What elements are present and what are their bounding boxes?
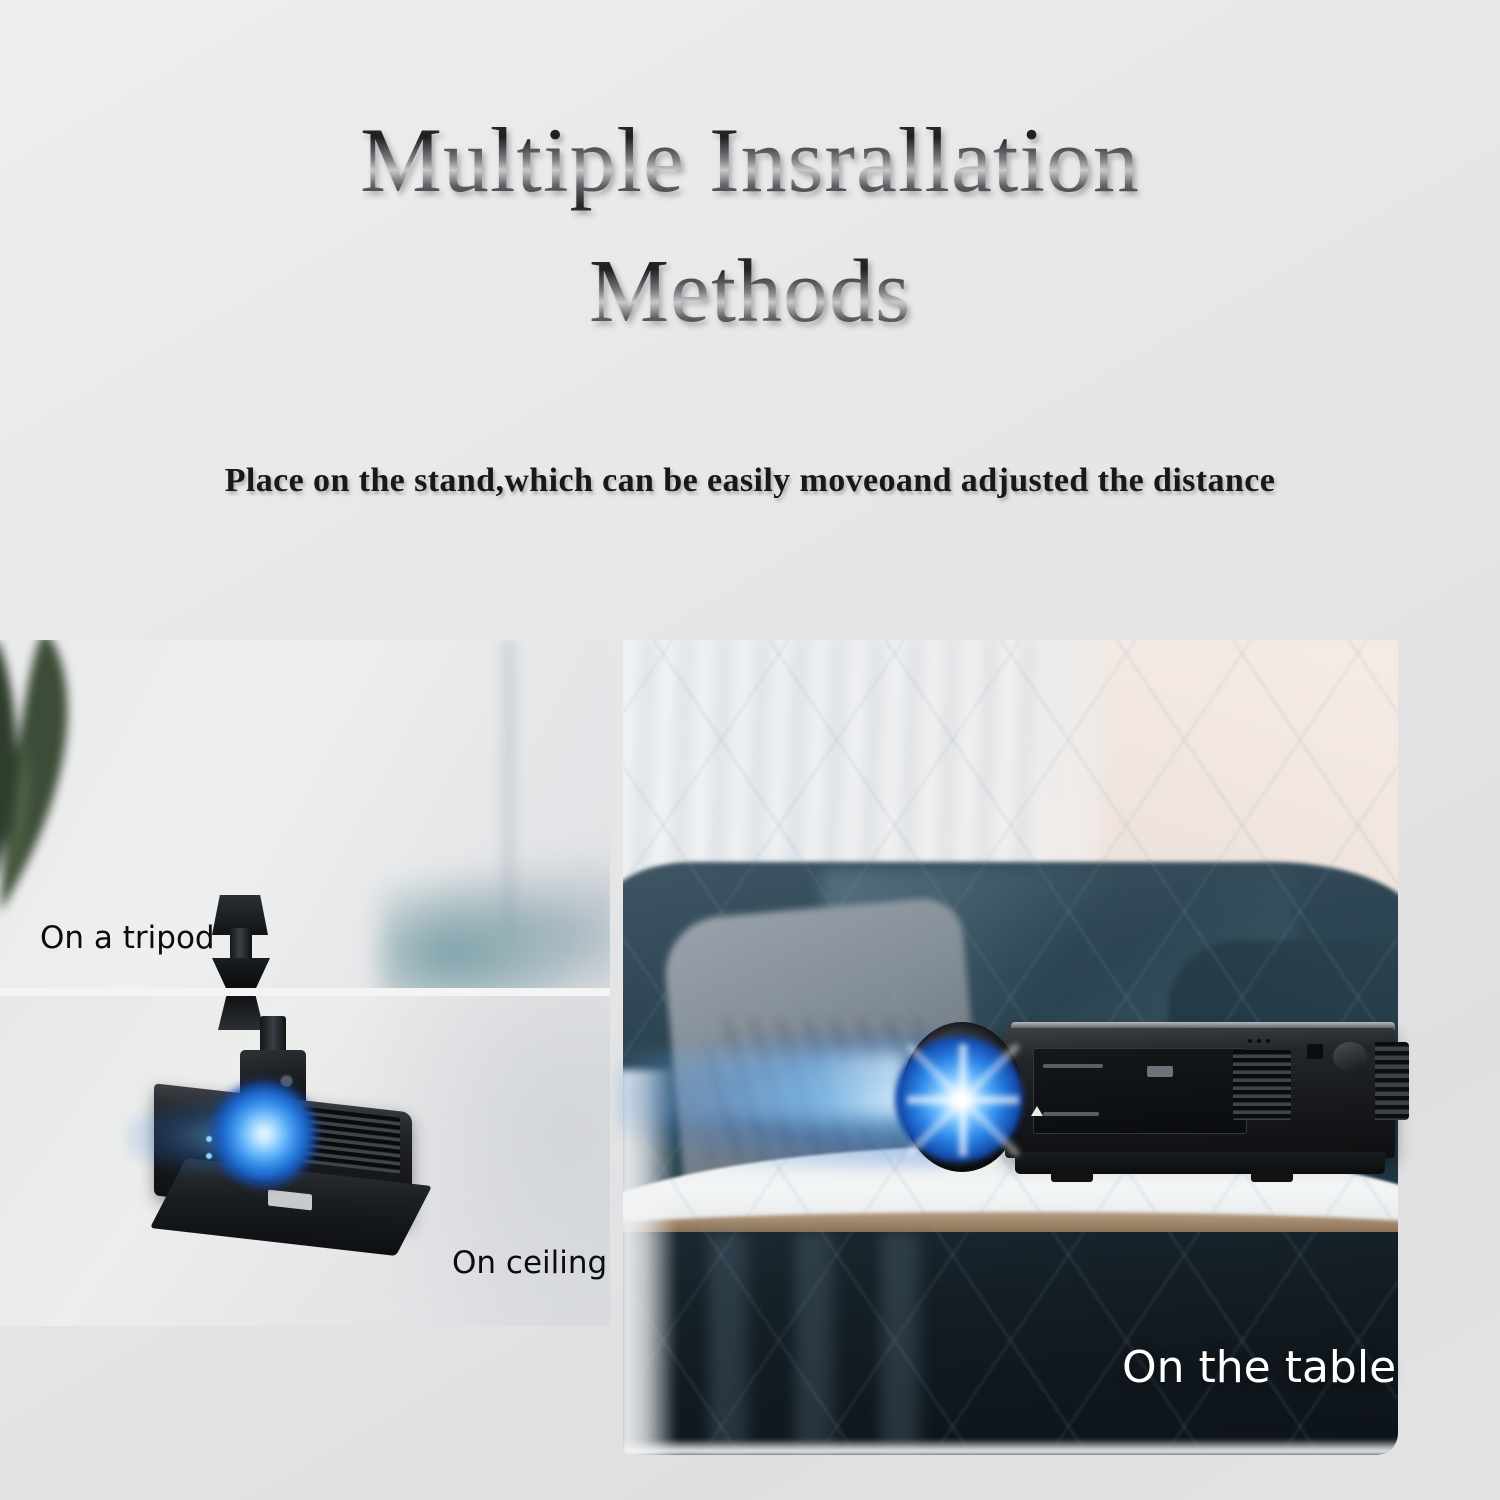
projector-front-panel <box>1033 1048 1247 1134</box>
background-furniture-blur <box>380 858 610 988</box>
projector-vents <box>1233 1050 1291 1120</box>
projector-lens-glow <box>895 1036 1023 1162</box>
projector-port <box>1307 1044 1323 1059</box>
projector-icon <box>120 1020 480 1260</box>
projector-icon <box>855 1000 1415 1210</box>
caption-on-a-tripod: On a tripod <box>40 920 215 956</box>
caption-on-ceiling: On ceiling <box>452 1245 607 1281</box>
projector-foot-left <box>1051 1168 1093 1182</box>
floor-strip <box>623 1439 1398 1455</box>
projector-beam-core <box>605 1052 905 1118</box>
projector-vents <box>302 1106 400 1173</box>
headline-line-2: Methods <box>0 228 1500 356</box>
headline-line-1: Multiple Insrallation <box>0 96 1500 224</box>
caption-on-the-table: On the table <box>1122 1342 1396 1393</box>
projector-badge <box>1147 1066 1173 1077</box>
projector-label-lower <box>1043 1112 1099 1116</box>
projector-label-upper <box>1043 1064 1103 1068</box>
page-title: Multiple Insrallation Methods <box>0 96 1500 356</box>
projector-side-vents <box>1375 1042 1409 1120</box>
panel-divider <box>0 988 610 996</box>
projector-triangle-mark <box>1031 1106 1043 1116</box>
projector-indicator-dots <box>1245 1034 1291 1048</box>
projector-focus-knob <box>1333 1042 1367 1072</box>
subheading-text: Place on the stand,which can be easily m… <box>0 462 1500 500</box>
projector-status-lights <box>204 1134 238 1160</box>
installation-methods-poster: Multiple Insrallation Methods Place on t… <box>0 0 1500 1500</box>
projector-foot-right <box>1251 1168 1293 1182</box>
plant-icon <box>0 640 116 954</box>
